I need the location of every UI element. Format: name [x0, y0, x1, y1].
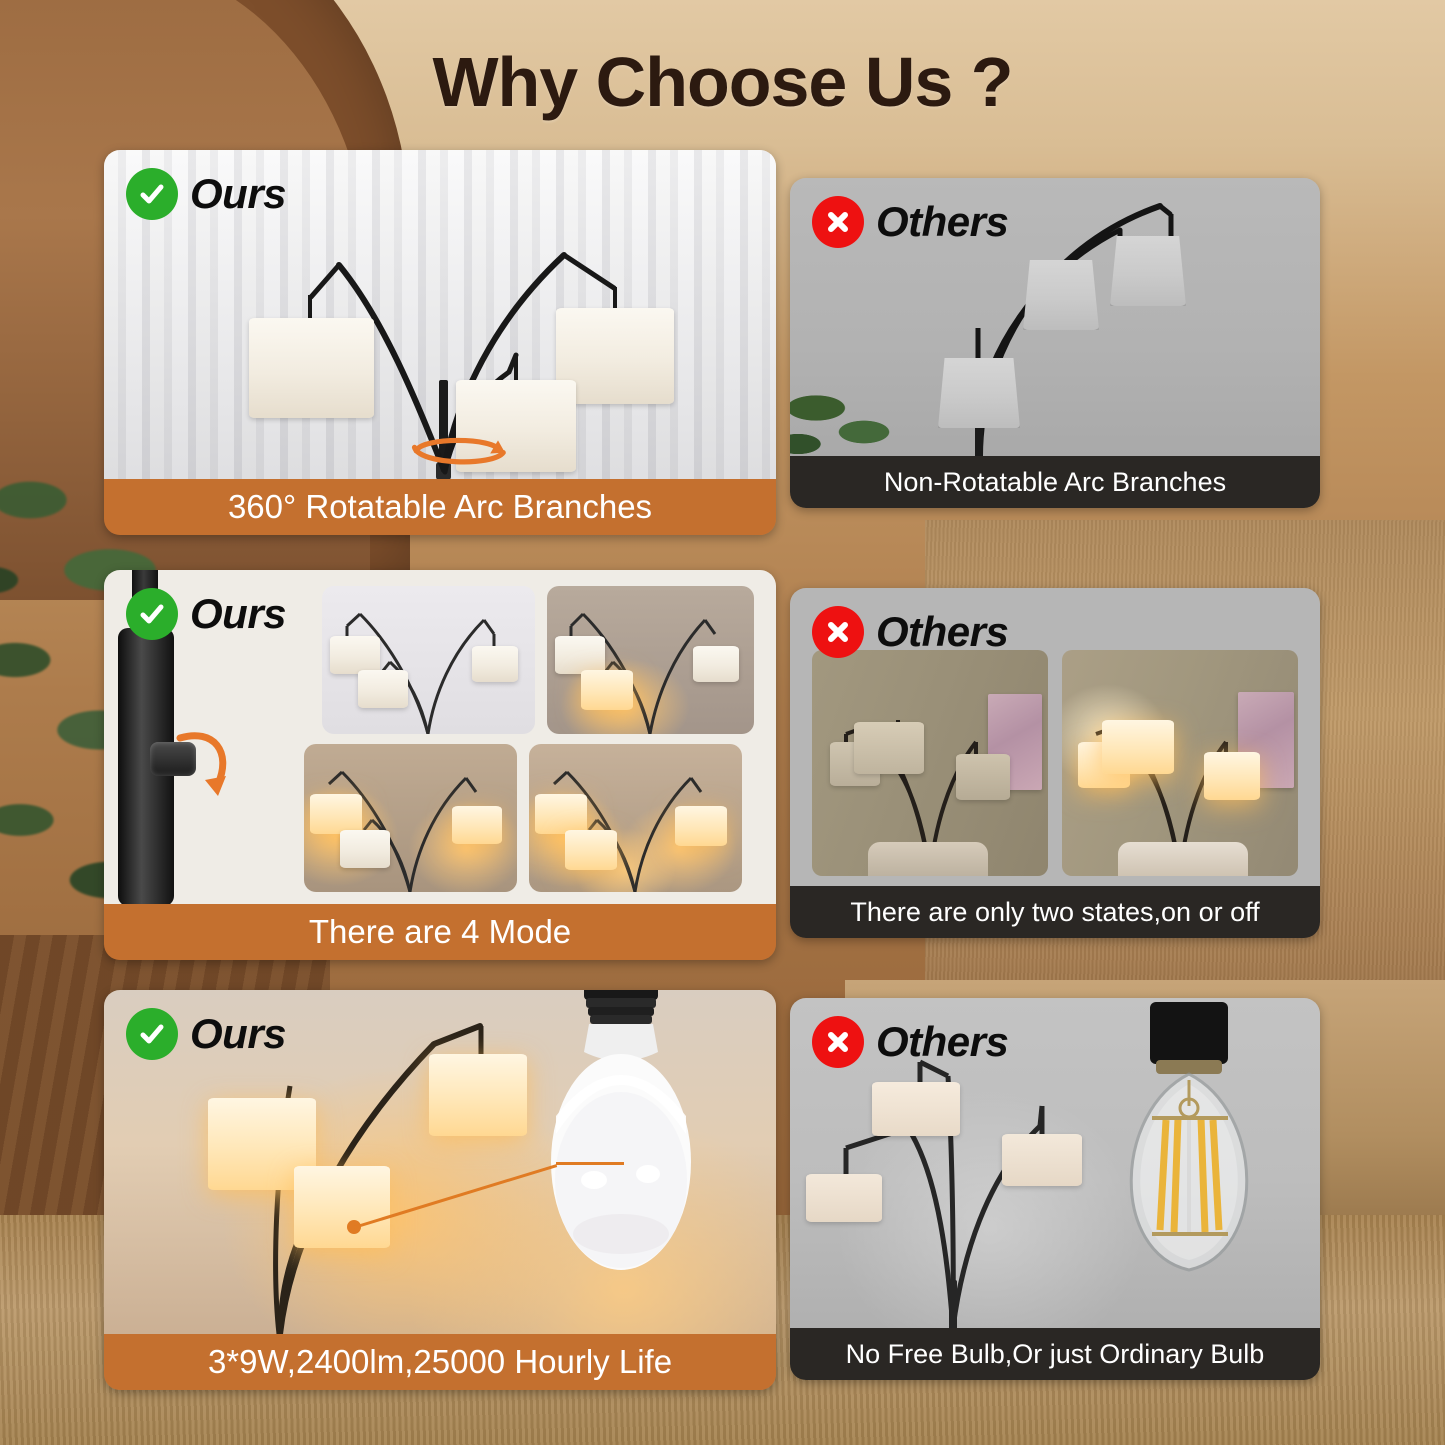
others-shade-top — [872, 1082, 960, 1136]
others-badge-rotatable: Others — [812, 196, 1008, 248]
ours-caption-bulb: 3*9W,2400lm,25000 Hourly Life — [104, 1334, 776, 1390]
others-label: Others — [876, 611, 1008, 653]
lamp-shade-lit-right — [429, 1054, 527, 1136]
others-caption-bulb: No Free Bulb,Or just Ordinary Bulb — [790, 1328, 1320, 1380]
ours-label: Ours — [190, 173, 286, 215]
cross-circle-icon — [812, 196, 864, 248]
mode-thumbnail-one-on[interactable] — [547, 586, 754, 734]
others-badge-bulb: Others — [812, 1016, 1008, 1068]
check-circle-icon — [126, 1008, 178, 1060]
rotary-knob-arrow-icon — [174, 722, 244, 812]
others-shade-mid — [1023, 260, 1099, 330]
ours-label: Ours — [190, 1013, 286, 1055]
ours-caption-modes: There are 4 Mode — [104, 904, 776, 960]
ours-card-modes[interactable]: There are 4 Mode Ours — [104, 570, 776, 960]
others-shade-left — [806, 1174, 882, 1222]
edison-bulb-image — [1094, 1002, 1284, 1302]
others-shade-high — [1110, 236, 1186, 306]
others-badge-modes: Others — [812, 606, 1008, 658]
others-shade-right — [1002, 1134, 1082, 1186]
check-circle-icon — [126, 168, 178, 220]
others-pole-bulb — [949, 1280, 957, 1328]
check-circle-icon — [126, 588, 178, 640]
ours-card-bulb[interactable]: 3*9W,2400lm,25000 Hourly Life Ours — [104, 990, 776, 1390]
led-bulb-image — [526, 990, 716, 1294]
others-plant-decor — [790, 374, 912, 456]
lamp-shade-lit-center — [294, 1166, 390, 1248]
mode-thumbnail-all-off[interactable] — [322, 586, 535, 734]
ours-caption-rotatable: 360° Rotatable Arc Branches — [104, 479, 776, 535]
ours-badge-modes: Ours — [126, 588, 286, 640]
others-card-bulb[interactable]: No Free Bulb,Or just Ordinary Bulb Other… — [790, 998, 1320, 1380]
others-card-modes[interactable]: There are only two states,on or off Othe… — [790, 588, 1320, 938]
state-thumbnail-row — [812, 650, 1298, 876]
others-card-rotatable[interactable]: Non-Rotatable Arc Branches Others — [790, 178, 1320, 508]
others-shade-low — [938, 358, 1020, 428]
ours-card-rotatable[interactable]: 360° Rotatable Arc Branches Ours — [104, 150, 776, 535]
ours-badge-bulb: Ours — [126, 1008, 286, 1060]
mode-thumbnail-two-on[interactable] — [304, 744, 517, 892]
others-label: Others — [876, 1021, 1008, 1063]
state-thumbnail-on[interactable] — [1062, 650, 1298, 876]
others-caption-rotatable: Non-Rotatable Arc Branches — [790, 456, 1320, 508]
comparison-rows: 360° Rotatable Arc Branches Ours — [0, 0, 1445, 1445]
others-label: Others — [876, 201, 1008, 243]
page-title: Why Choose Us ? — [0, 42, 1445, 122]
rotation-arrow-icon — [404, 430, 512, 470]
state-thumbnail-off[interactable] — [812, 650, 1048, 876]
ours-label: Ours — [190, 593, 286, 635]
others-caption-modes: There are only two states,on or off — [790, 886, 1320, 938]
cross-circle-icon — [812, 1016, 864, 1068]
mode-thumbnail-three-on[interactable] — [529, 744, 742, 892]
lamp-shade-left — [249, 318, 374, 418]
cross-circle-icon — [812, 606, 864, 658]
callout-line-segment-2 — [556, 1162, 624, 1165]
ours-badge-rotatable: Ours — [126, 168, 286, 220]
mode-thumbnail-grid — [304, 586, 754, 892]
